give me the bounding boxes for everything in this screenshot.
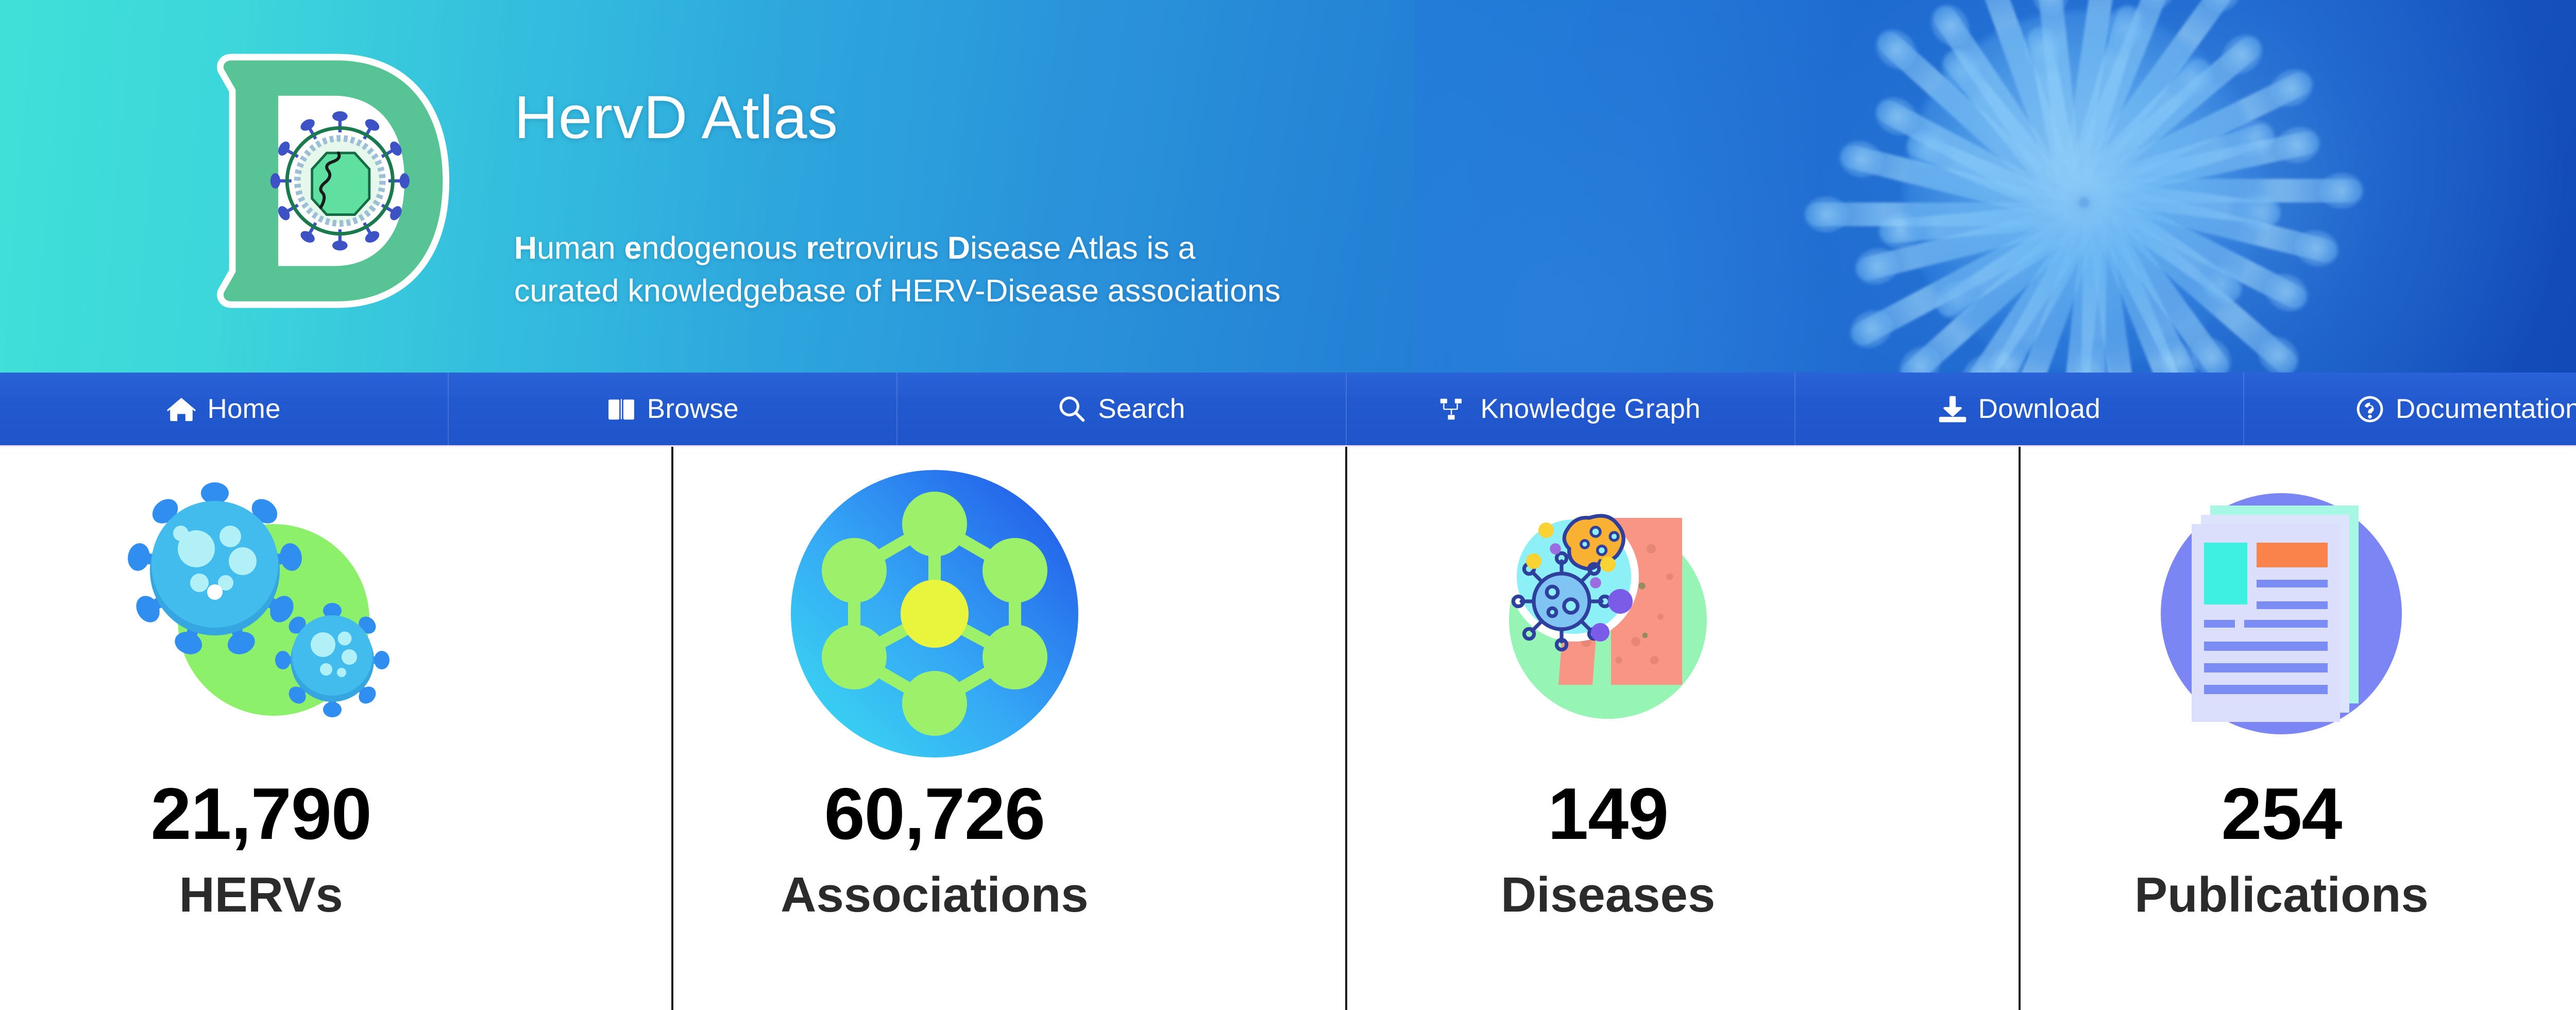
- nav-item-knowledge-graph[interactable]: Knowledge Graph: [1347, 373, 1795, 445]
- nav-item-home[interactable]: Home: [0, 373, 449, 445]
- stat-label: Publications: [2134, 870, 2429, 920]
- disease-skin-icon: [1453, 459, 1762, 768]
- question-circle-icon: [2355, 395, 2384, 424]
- acronym-letter: H: [514, 230, 537, 265]
- download-icon: [1938, 395, 1967, 424]
- stat-label: Diseases: [1501, 870, 1715, 920]
- nav-item-search[interactable]: Search: [897, 373, 1346, 445]
- publications-icon: [2127, 459, 2436, 768]
- logo[interactable]: [181, 34, 475, 328]
- page-title: HervD Atlas: [514, 87, 838, 148]
- stat-card-publications[interactable]: 254Publications: [2021, 447, 2576, 1010]
- page-subtitle-line-2: curated knowledgebase of HERV-Disease as…: [514, 270, 1545, 312]
- stat-card-hervs[interactable]: 21,790HERVs: [0, 447, 673, 1010]
- hero-banner: HervD Atlas Human endogenous retrovirus …: [0, 0, 2576, 373]
- subtitle-text: ndogenous: [642, 230, 806, 265]
- main-navigation: HomeBrowseSearchKnowledge GraphDownloadD…: [0, 373, 2576, 447]
- acronym-letter: D: [947, 230, 970, 265]
- network-graph-icon: [780, 459, 1089, 768]
- stat-label: HERVs: [179, 870, 343, 920]
- stats-row: 21,790HERVs 60,726Associations 149Diseas…: [0, 447, 2576, 1010]
- nav-item-label: Download: [1978, 393, 2100, 425]
- stat-value: 60,726: [824, 778, 1045, 851]
- nav-item-browse[interactable]: Browse: [449, 373, 897, 445]
- acronym-letter: e: [624, 230, 642, 265]
- nav-item-label: Home: [207, 393, 280, 425]
- stat-label: Associations: [781, 870, 1089, 920]
- virus-cluster-icon: [107, 459, 416, 768]
- stat-card-associations[interactable]: 60,726Associations: [673, 447, 1347, 1010]
- stat-value: 21,790: [150, 778, 371, 851]
- nav-item-download[interactable]: Download: [1795, 373, 2244, 445]
- search-icon: [1058, 395, 1087, 424]
- subtitle-text: uman: [537, 230, 624, 265]
- subtitle-text: isease Atlas is a: [970, 230, 1195, 265]
- stat-value: 254: [2221, 778, 2342, 851]
- page-subtitle-line-1: Human endogenous retrovirus Disease Atla…: [514, 227, 1545, 270]
- nav-item-label: Browse: [647, 393, 739, 425]
- nav-item-label: Documentation: [2396, 393, 2576, 425]
- stat-value: 149: [1548, 778, 1668, 851]
- acronym-letter: r: [806, 230, 818, 265]
- nav-item-documentation[interactable]: Documentation: [2244, 373, 2576, 445]
- home-icon: [167, 395, 196, 424]
- nav-item-label: Knowledge Graph: [1480, 393, 1700, 425]
- stat-card-diseases[interactable]: 149Diseases: [1347, 447, 2021, 1010]
- project-diagram-icon: [1440, 395, 1469, 424]
- subtitle-text: etrovirus: [818, 230, 947, 265]
- book-open-icon: [607, 395, 636, 424]
- nav-item-label: Search: [1098, 393, 1185, 425]
- page-subtitle: Human endogenous retrovirus Disease Atla…: [514, 227, 1545, 312]
